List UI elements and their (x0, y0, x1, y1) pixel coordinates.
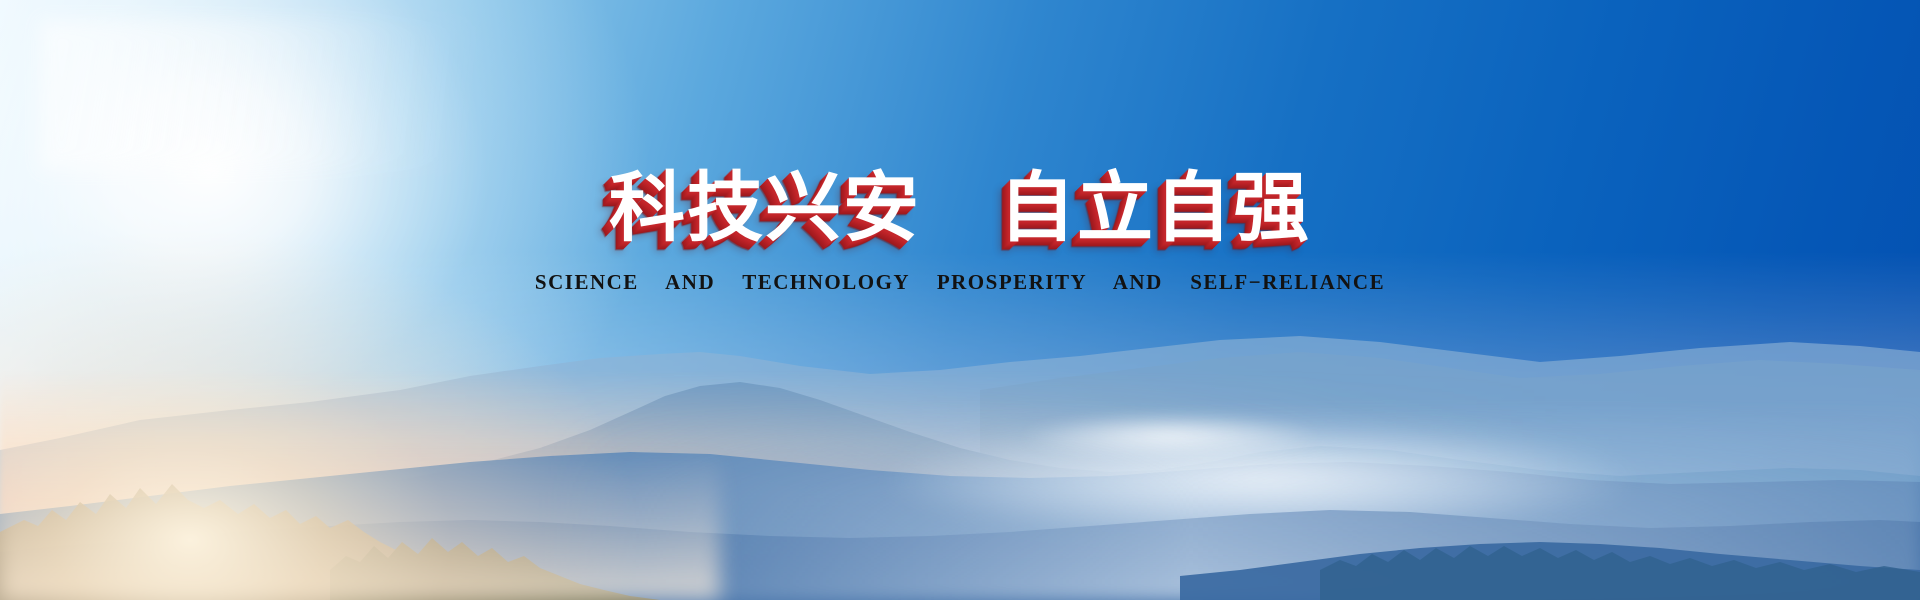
hero-banner: 科技兴安 自立自强 SCIENCE AND TECHNOLOGY PROSPER… (0, 0, 1920, 600)
mountain-landscape (0, 270, 1920, 600)
foreground-trees-right (0, 270, 1920, 600)
